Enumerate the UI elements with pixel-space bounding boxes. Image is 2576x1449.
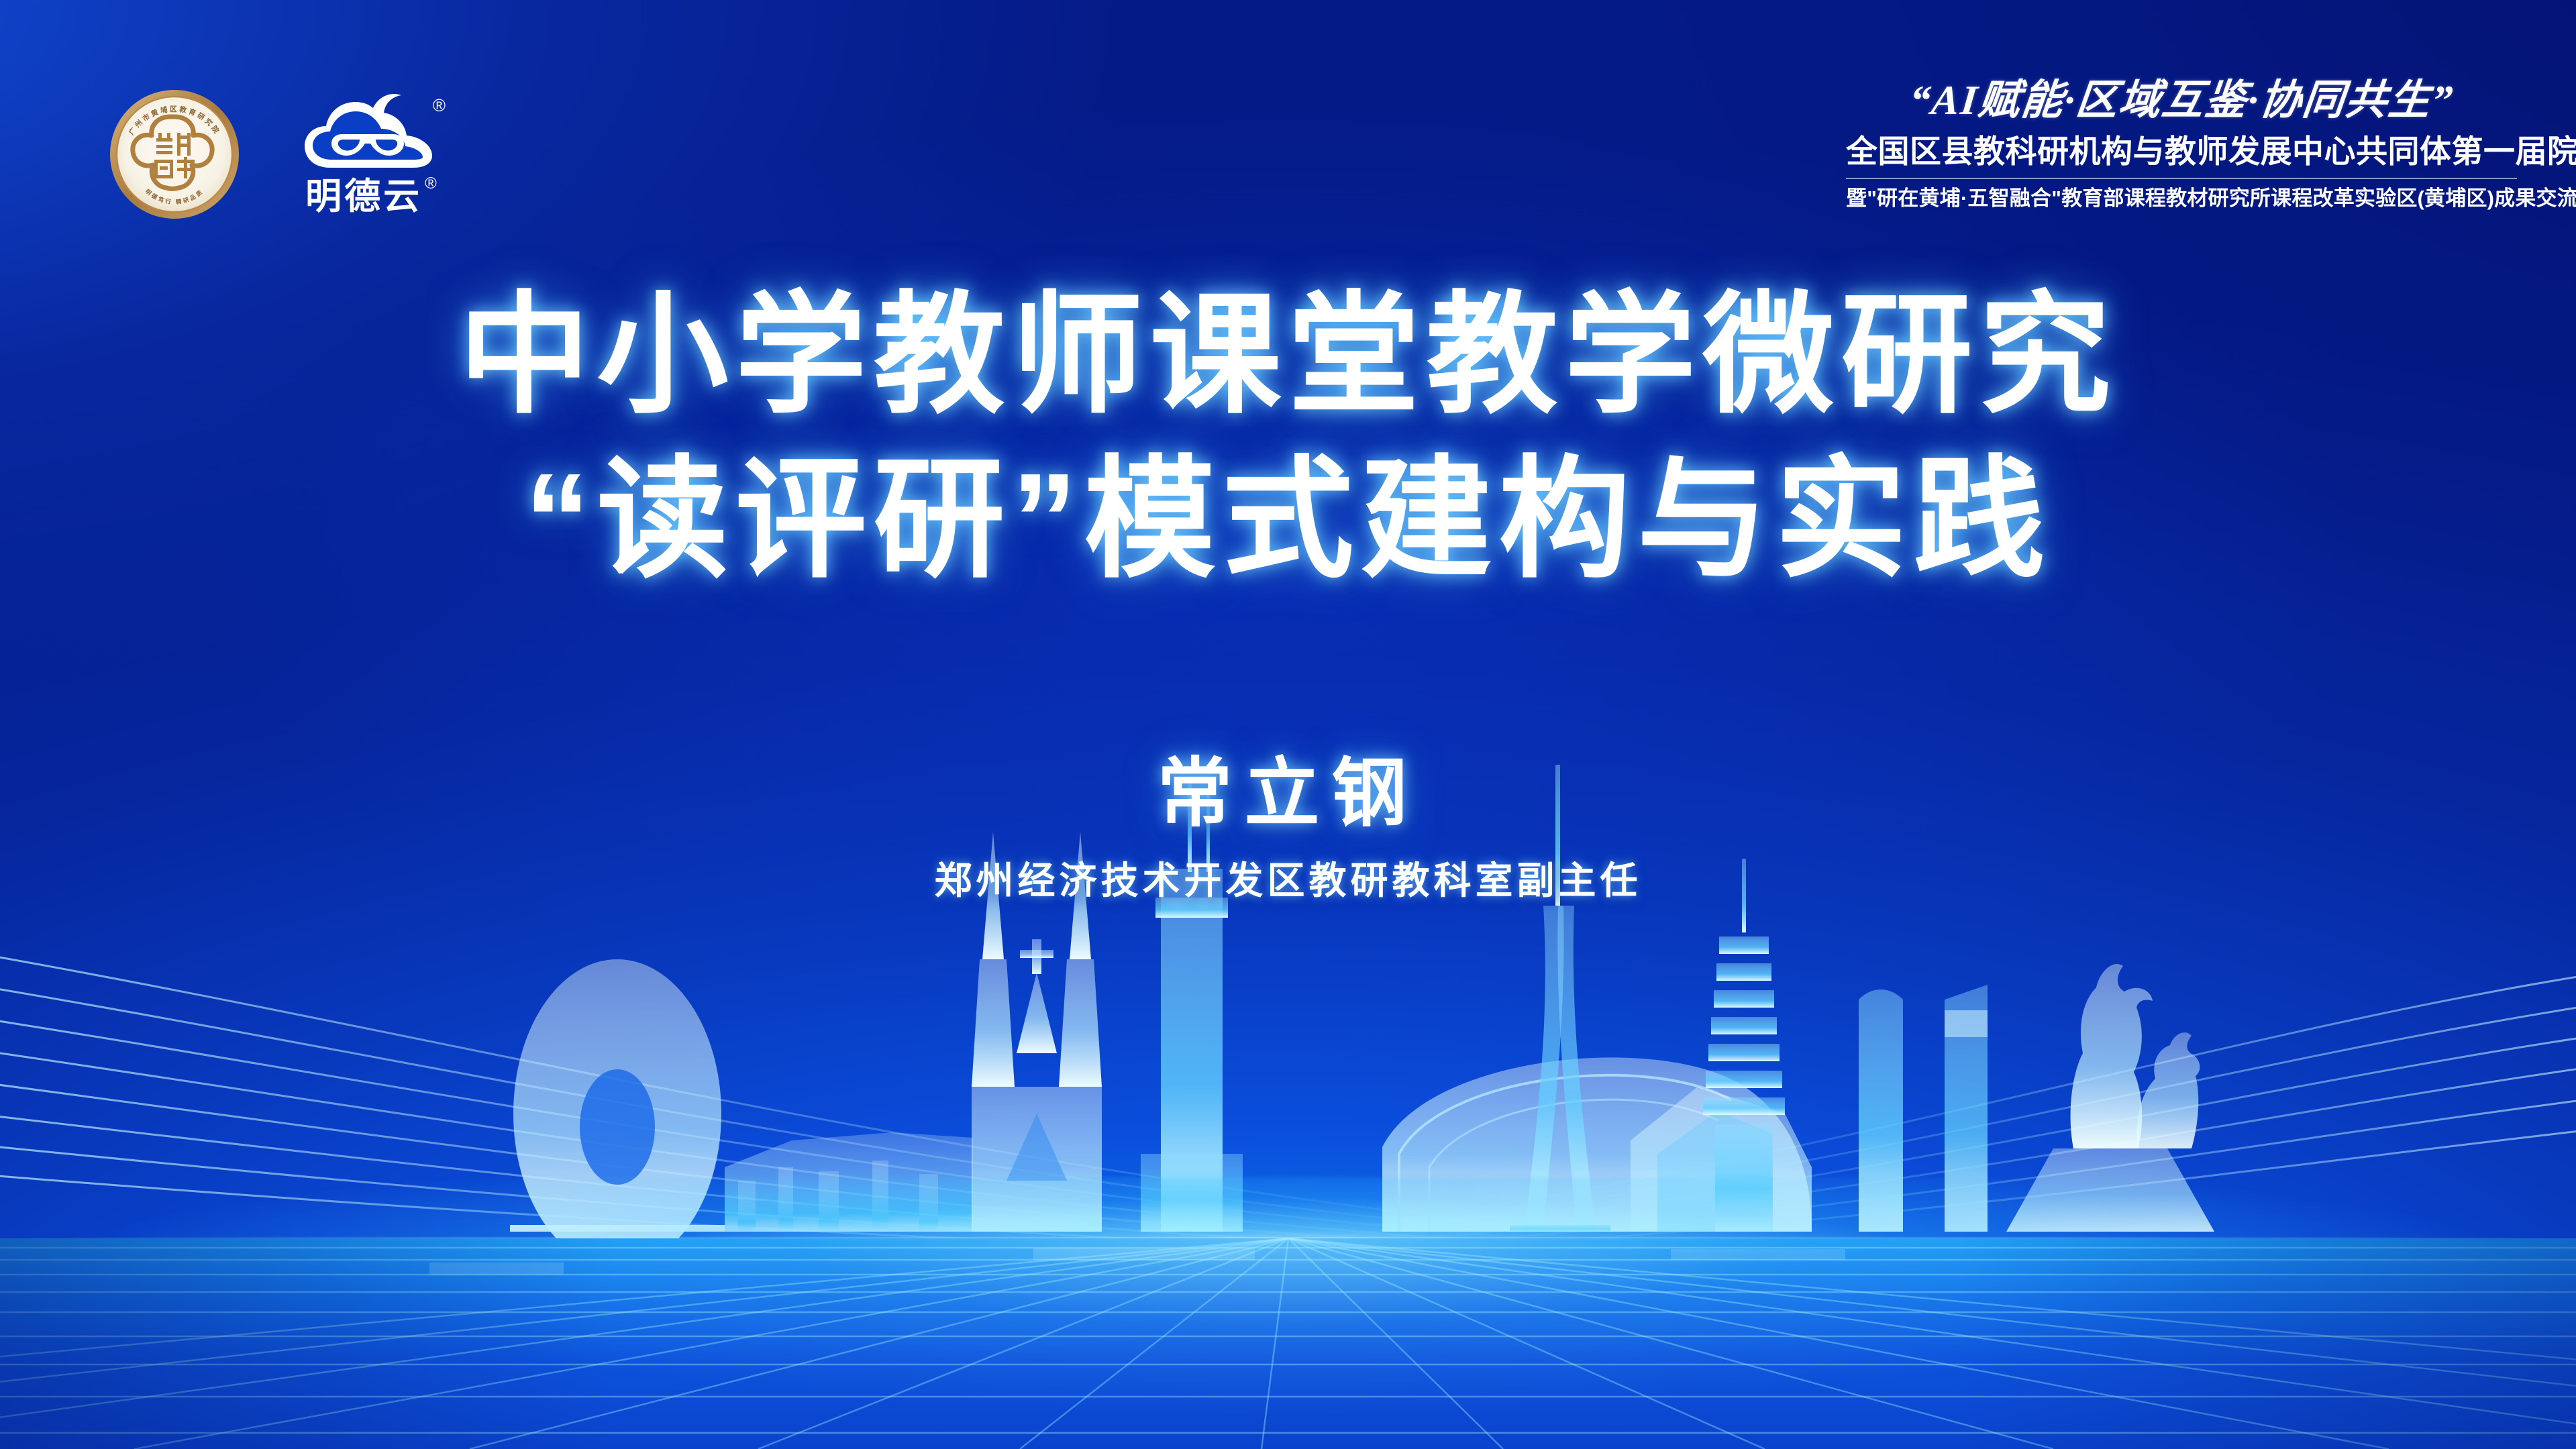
ctf-finance-centre (1141, 778, 1243, 1232)
registered-mark-icon-2: ® (425, 176, 437, 192)
mingde-cloud-wordmark: 明德云 (305, 178, 422, 215)
chigang-pagoda (1703, 859, 1785, 1232)
registered-mark-icon: ® (433, 97, 446, 114)
title-line-2: “读评研”模式建构与实践 (0, 445, 2576, 594)
slide-title-block: 中小学教师课堂教学微研究 “读评研”模式建构与实践 (0, 280, 2576, 595)
institution-logos: 广州市黄埔区教育研究院 明德笃行 精研品质 ® 明德云 (107, 87, 455, 221)
title-line-1: 中小学教师课堂教学微研究 (0, 280, 2576, 430)
perspective-grid-floor (0, 1238, 2576, 1449)
mingde-cloud-logo: ® 明德云 ® (287, 87, 455, 215)
floor-edge-vignette (0, 1238, 2576, 1449)
forum-divider (1846, 178, 2517, 179)
presentation-slide: 广州市黄埔区教育研究院 明德笃行 精研品质 ® 明德云 (0, 0, 2576, 1449)
forum-sub-title: 暨"研在黄埔·五智融合"教育部课程教材研究所课程改革实验区(黄埔区)成果交流培训… (1846, 186, 2517, 211)
speaker-role: 郑州经济技术开发区教研教科室副主任 (0, 851, 2576, 905)
huangpu-education-institute-seal-icon: 广州市黄埔区教育研究院 明德笃行 精研品质 (107, 87, 242, 221)
cloud-glasses-icon: ® (301, 93, 442, 174)
speaker-name: 常立钢 (0, 733, 2576, 841)
forum-main-title: 全国区县教科研机构与教师发展中心共同体第一届院长论坛 (1846, 134, 2517, 170)
forum-slogan: “AI赋能·区域互鉴·协同共生” (1844, 79, 2520, 123)
forum-header: “AI赋能·区域互鉴·协同共生” 全国区县教科研机构与教师发展中心共同体第一届院… (1846, 79, 2517, 211)
